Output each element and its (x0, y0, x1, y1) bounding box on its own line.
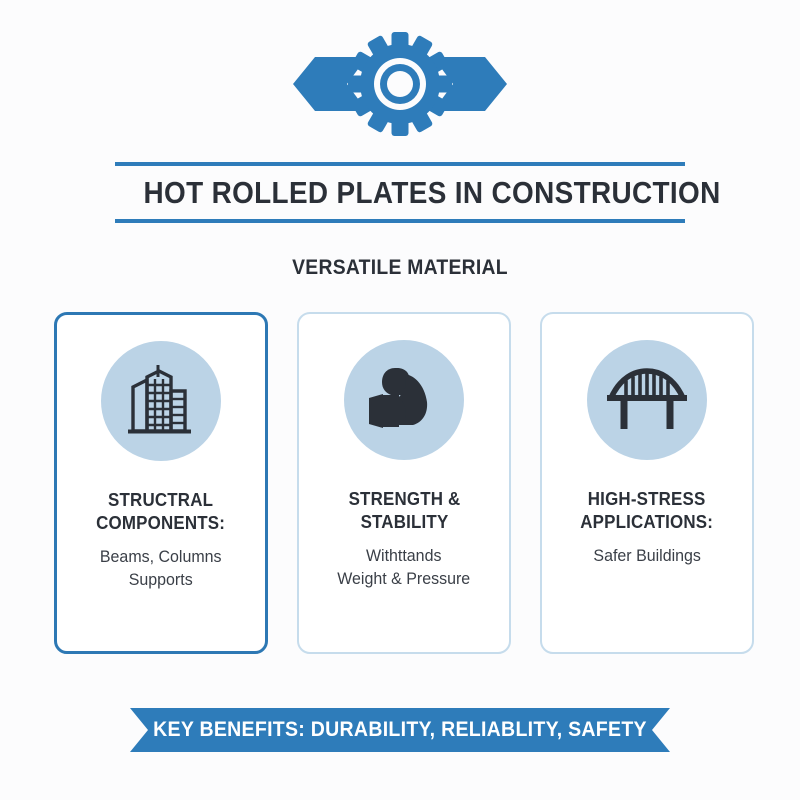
icon-circle (344, 340, 464, 460)
feature-card-strength-stability[interactable]: STRENGTH & STABILITY Withttands Weight &… (297, 312, 511, 654)
page-subtitle: VERSATILE MATERIAL (32, 256, 768, 280)
card-body: Beams, Columns Supports (100, 545, 222, 591)
feature-card-structural-components[interactable]: STRUCTRAL COMPONENTS: Beams, Columns Sup… (54, 312, 268, 654)
key-benefits-ribbon: KEY BENEFITS: DURABILITY, RELIABLITY, SA… (130, 708, 670, 752)
feature-card-high-stress-applications[interactable]: HIGH-STRESS APPLICATIONS: Safer Building… (540, 312, 754, 654)
flexed-bicep-icon (365, 364, 443, 436)
ribbon-label: KEY BENEFITS: DURABILITY, RELIABLITY, SA… (149, 708, 651, 752)
gear-arrows-logo (0, 24, 800, 144)
feature-card-list: STRUCTRAL COMPONENTS: Beams, Columns Sup… (54, 312, 754, 654)
title-rule-bottom (115, 219, 685, 223)
card-body: Withttands Weight & Pressure (338, 544, 471, 590)
card-heading: HIGH-STRESS APPLICATIONS: (581, 488, 714, 534)
page-title: HOT ROLLED PLATES IN CONSTRUCTION (144, 166, 657, 219)
office-building-icon (125, 363, 197, 439)
icon-circle (101, 341, 221, 461)
title-block: HOT ROLLED PLATES IN CONSTRUCTION (115, 162, 685, 223)
infographic-page: HOT ROLLED PLATES IN CONSTRUCTION VERSAT… (0, 0, 800, 800)
card-heading: STRENGTH & STABILITY (348, 488, 460, 534)
logo-svg (275, 29, 525, 139)
gear-icon (348, 32, 452, 136)
arch-bridge-icon (604, 368, 690, 432)
card-body: Safer Buildings (593, 544, 700, 567)
icon-circle (587, 340, 707, 460)
card-heading: STRUCTRAL COMPONENTS: (97, 489, 226, 535)
